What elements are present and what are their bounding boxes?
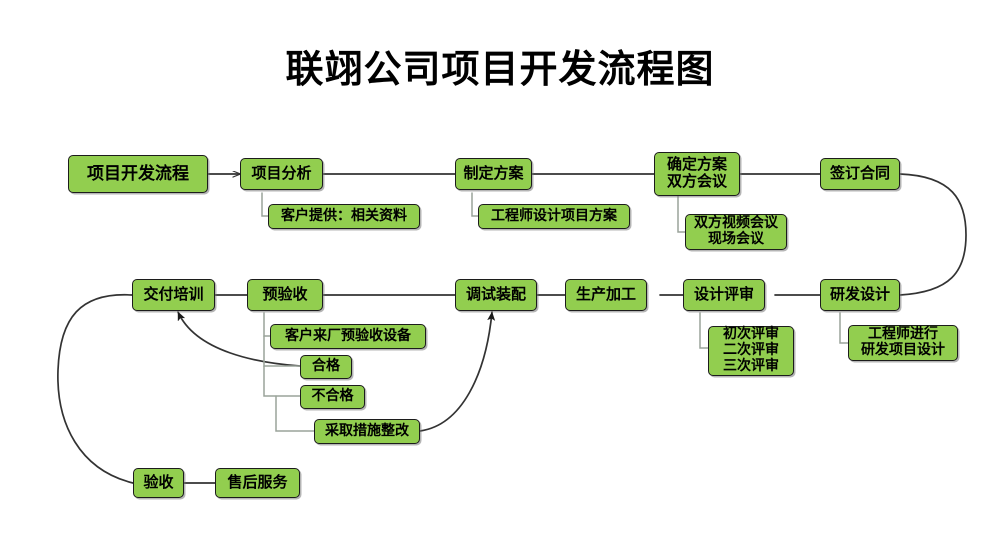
note-review-rounds[interactable]: 初次评审 二次评审 三次评审 <box>708 326 794 376</box>
node-design-review[interactable]: 设计评审 <box>683 279 765 311</box>
node-take-corrective-measures[interactable]: 采取措施整改 <box>314 419 420 444</box>
node-project-development-process[interactable]: 项目开发流程 <box>68 155 208 193</box>
note-customer-pre-acceptance-onsite[interactable]: 客户来厂预验收设备 <box>270 324 426 349</box>
node-unqualified[interactable]: 不合格 <box>300 385 365 409</box>
node-sign-contract[interactable]: 签订合同 <box>820 158 900 190</box>
flowchart-canvas: 联翊公司项目开发流程图 <box>0 0 1000 541</box>
note-engineer-designs-project-plan[interactable]: 工程师设计项目方案 <box>478 204 630 229</box>
node-project-analysis[interactable]: 项目分析 <box>240 158 323 190</box>
node-production-processing[interactable]: 生产加工 <box>565 279 647 311</box>
note-video-and-onsite-meeting[interactable]: 双方视频会议 现场会议 <box>685 214 787 250</box>
node-pre-acceptance[interactable]: 预验收 <box>247 279 323 311</box>
page-title: 联翊公司项目开发流程图 <box>0 38 1000 93</box>
node-after-sales-service[interactable]: 售后服务 <box>215 468 300 498</box>
node-rd-design[interactable]: 研发设计 <box>820 279 900 311</box>
node-delivery-training[interactable]: 交付培训 <box>132 279 215 311</box>
node-qualified[interactable]: 合格 <box>300 355 352 379</box>
node-formulate-plan[interactable]: 制定方案 <box>455 158 532 190</box>
node-acceptance[interactable]: 验收 <box>133 468 184 498</box>
node-confirm-plan-bilateral-meeting[interactable]: 确定方案 双方会议 <box>654 152 740 196</box>
note-engineer-rd-project-design[interactable]: 工程师进行 研发项目设计 <box>848 325 958 361</box>
node-debug-assembly[interactable]: 调试装配 <box>455 279 537 311</box>
note-customer-provides-materials[interactable]: 客户提供：相关资料 <box>268 204 420 229</box>
